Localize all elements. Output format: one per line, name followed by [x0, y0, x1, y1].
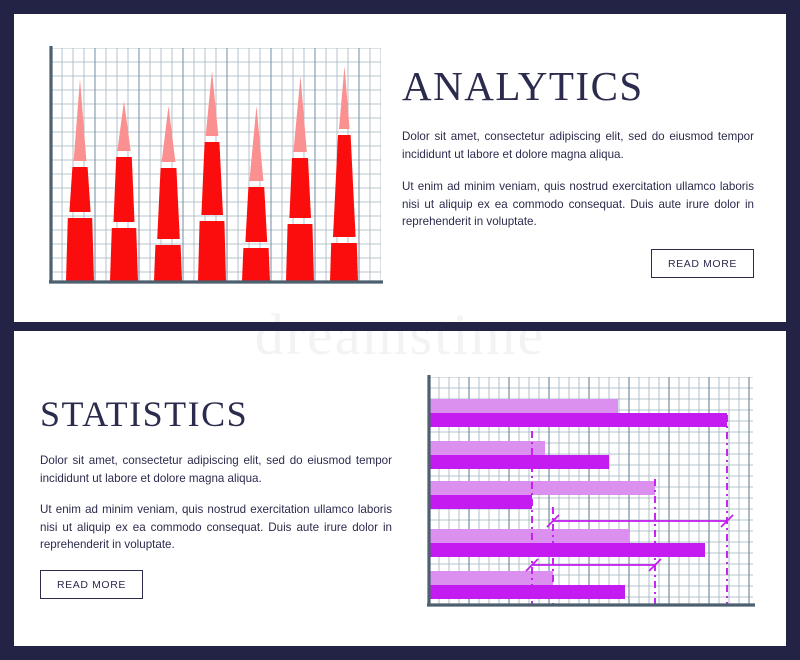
bar-dark-2	[429, 455, 609, 469]
cone-series	[66, 66, 358, 281]
cone-bar-1	[66, 79, 94, 281]
cone-bar-4	[198, 71, 226, 281]
bar-light-2	[429, 441, 545, 455]
cone-chart-svg	[47, 46, 385, 286]
analytics-cone-chart	[47, 46, 385, 286]
cone-bar-7	[330, 66, 358, 281]
bar-dark-1	[429, 413, 727, 427]
bar-dark-3	[429, 495, 532, 509]
statistics-heading: STATISTICS	[40, 393, 392, 435]
cone-bar-2	[110, 101, 138, 281]
analytics-read-more-button[interactable]: READ MORE	[651, 249, 754, 278]
statistics-cta-wrap: READ MORE	[40, 570, 392, 599]
statistics-read-more-button[interactable]: READ MORE	[40, 570, 143, 599]
analytics-paragraph-2: Ut enim ad minim veniam, quis nostrud ex…	[402, 178, 754, 231]
dimension-arrow-1	[547, 515, 733, 527]
panel-divider	[14, 322, 786, 331]
statistics-paragraph-1: Dolor sit amet, consectetur adipiscing e…	[40, 452, 392, 487]
bar-series	[429, 399, 727, 599]
bar-light-1	[429, 399, 618, 413]
statistics-bar-chart	[425, 375, 755, 610]
bar-chart-svg	[425, 375, 755, 610]
bar-dark-5	[429, 585, 625, 599]
analytics-heading: ANALYTICS	[402, 62, 754, 110]
bar-light-4	[429, 529, 629, 543]
bar-dark-4	[429, 543, 705, 557]
statistics-paragraph-2: Ut enim ad minim veniam, quis nostrud ex…	[40, 501, 392, 554]
analytics-paragraph-1: Dolor sit amet, consectetur adipiscing e…	[402, 128, 754, 163]
analytics-text-block: ANALYTICS Dolor sit amet, consectetur ad…	[402, 62, 754, 278]
bar-light-3	[429, 481, 655, 495]
analytics-cta-wrap: READ MORE	[402, 249, 754, 278]
statistics-text-block: STATISTICS Dolor sit amet, consectetur a…	[40, 393, 392, 599]
bar-light-5	[429, 571, 553, 585]
cone-bar-6	[286, 76, 314, 281]
dimension-arrow-2	[526, 559, 661, 571]
